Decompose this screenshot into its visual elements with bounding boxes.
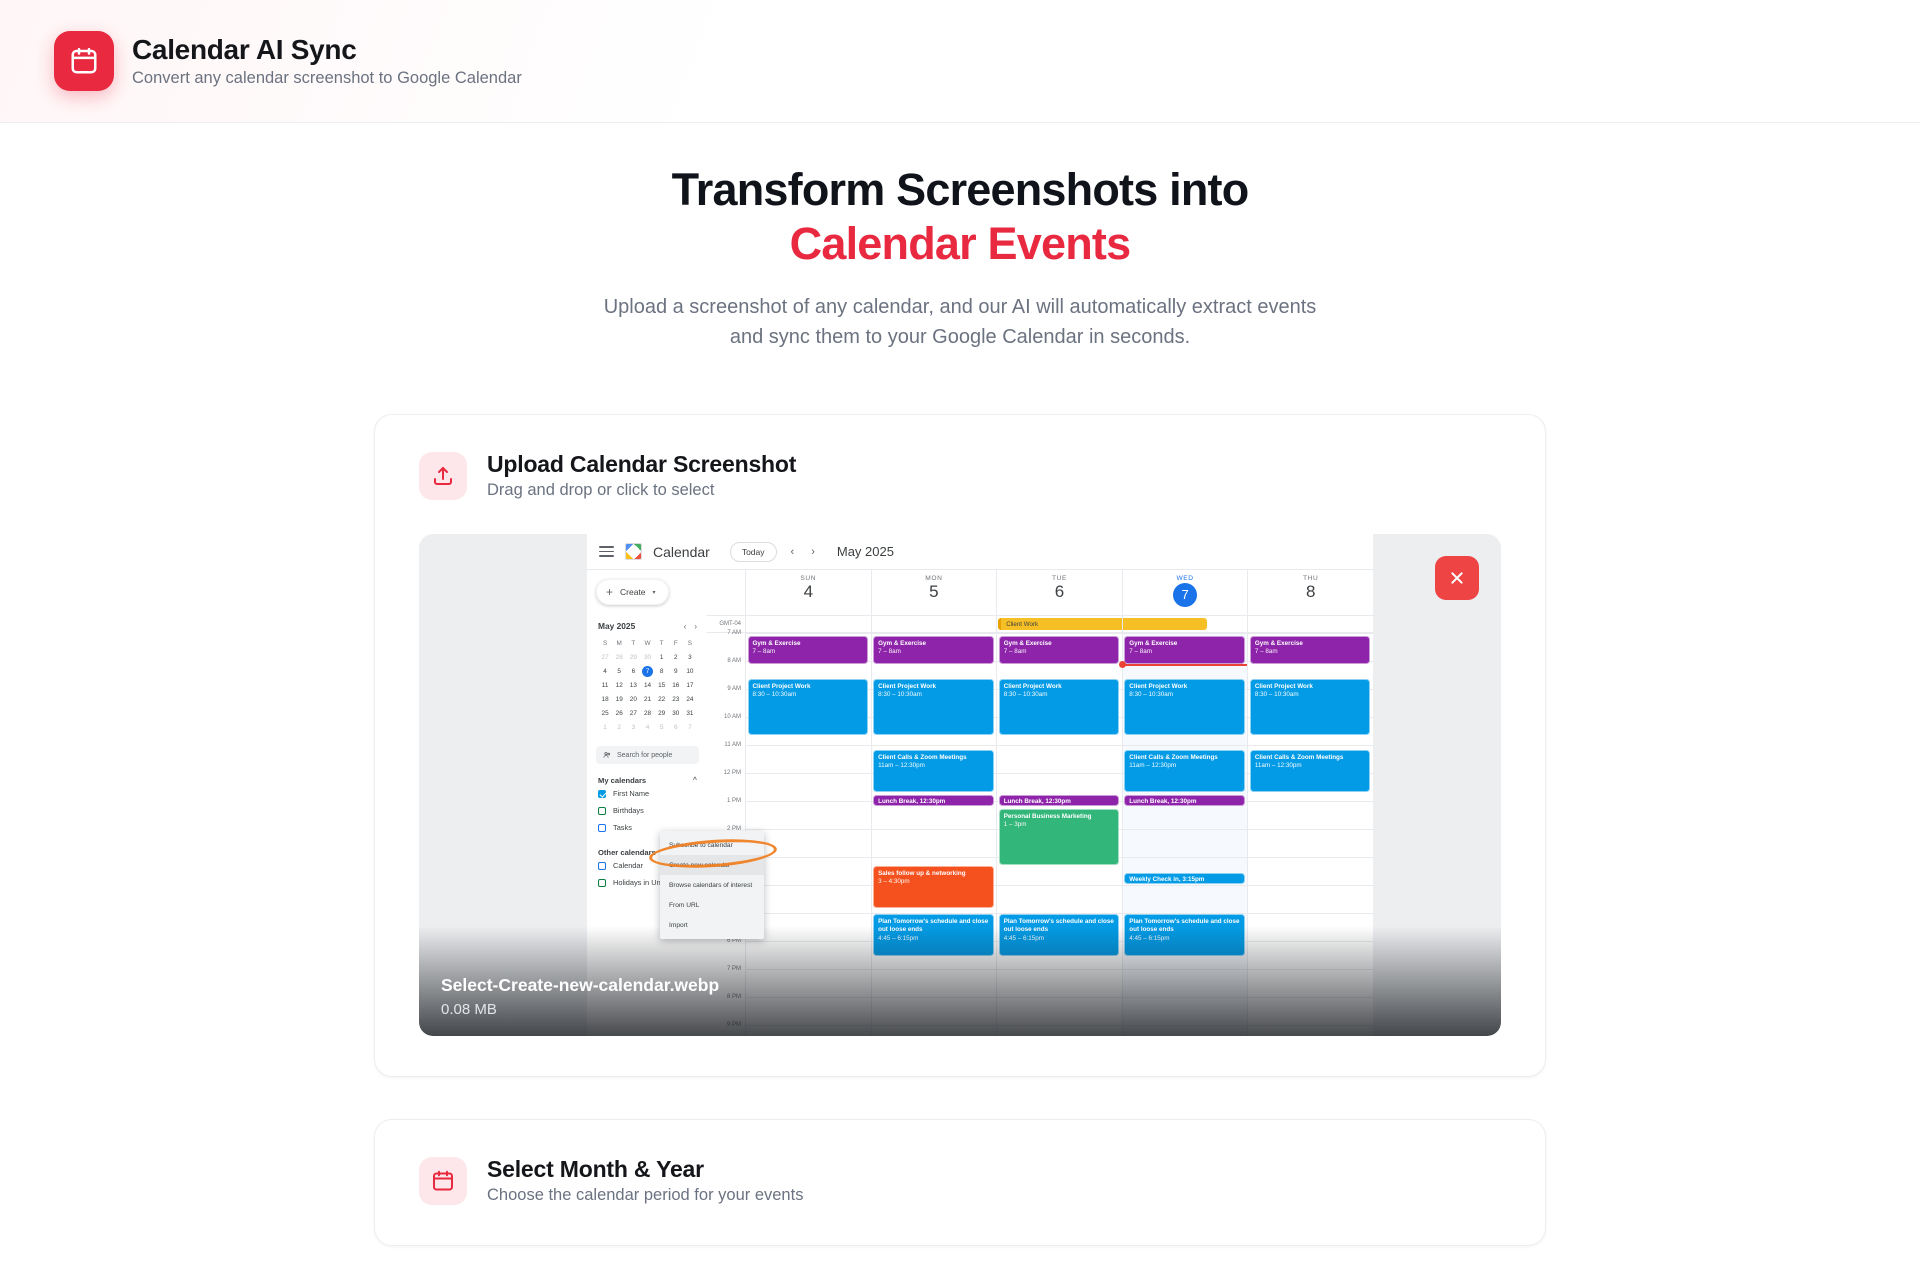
mini-day-25[interactable]: 25 [598, 708, 612, 719]
mini-day-19[interactable]: 19 [612, 694, 626, 705]
mini-dow-4: T [655, 638, 669, 649]
event-title: Client Project Work [1004, 683, 1115, 691]
calendar-event[interactable]: Client Calls & Zoom Meetings11am – 12:30… [1124, 750, 1245, 792]
hour-line [1248, 633, 1373, 634]
upload-card-header: Upload Calendar Screenshot Drag and drop… [419, 451, 1501, 500]
event-time: 7 – 8am [878, 648, 989, 656]
event-time: 7 – 8am [1004, 648, 1115, 656]
hour-line [997, 1025, 1122, 1026]
event-title: Sales follow up & networking [878, 870, 989, 878]
hour-line [746, 773, 871, 774]
mini-day-13[interactable]: 13 [626, 680, 640, 691]
time-label-2: 9 AM [727, 686, 741, 692]
mini-day-28[interactable]: 28 [640, 708, 654, 719]
allday-col-2[interactable]: Client Work [996, 616, 1122, 632]
time-label-6: 1 PM [727, 798, 741, 804]
day-columns[interactable]: Gym & Exercise7 – 8amClient Project Work… [745, 633, 1373, 1036]
context-menu-item-3[interactable]: From URL [660, 895, 764, 915]
hour-line [1248, 997, 1373, 998]
gutter-spacer [707, 570, 745, 615]
day-of-week-label: MON [872, 575, 997, 582]
event-title: Client Calls & Zoom Meetings [1129, 754, 1240, 762]
mini-day-23[interactable]: 23 [669, 694, 683, 705]
mini-day-14[interactable]: 14 [640, 680, 654, 691]
my-calendar-item-1[interactable]: Birthdays [596, 802, 699, 819]
event-title: Gym & Exercise [1004, 640, 1115, 648]
day-header-thu[interactable]: THU8 [1247, 570, 1373, 615]
search-for-people-label: Search for people [617, 752, 672, 759]
mini-calendar-title: May 2025 [598, 621, 635, 631]
hour-line [1123, 885, 1248, 886]
day-column-1[interactable]: Gym & Exercise7 – 8amClient Project Work… [871, 633, 997, 1036]
mini-day-27[interactable]: 27 [626, 708, 640, 719]
mini-day-3[interactable]: 3 [626, 722, 640, 733]
mini-calendar-grid[interactable]: SMTWTFS272829301234567891011121314151617… [598, 638, 697, 733]
event-title: Client Project Work [753, 683, 864, 691]
context-menu-item-4[interactable]: Import [660, 915, 764, 935]
event-title: Lunch Break, 12:30pm [878, 798, 989, 806]
calendar-event[interactable]: Plan Tomorrow's schedule and close out l… [999, 914, 1120, 956]
calendar-event[interactable]: Plan Tomorrow's schedule and close out l… [873, 914, 994, 956]
calendar-event[interactable]: Gym & Exercise7 – 8am [999, 636, 1120, 664]
calendar-event[interactable]: Client Project Work8:30 – 10:30am [1124, 679, 1245, 735]
context-menu-item-0[interactable]: Subscribe to calendar [660, 835, 764, 855]
mini-day-17[interactable]: 17 [683, 680, 697, 691]
hour-line [1248, 969, 1373, 970]
hour-line [1123, 997, 1248, 998]
time-label-3: 10 AM [724, 714, 741, 720]
day-number[interactable]: 8 [1248, 583, 1373, 602]
hour-line [746, 913, 871, 914]
event-title: Client Calls & Zoom Meetings [878, 754, 989, 762]
mini-day-30[interactable]: 30 [669, 708, 683, 719]
event-time: 8:30 – 10:30am [878, 691, 989, 699]
hero-description-line1: Upload a screenshot of any calendar, and… [604, 296, 1317, 318]
hour-line [746, 969, 871, 970]
calendar-event[interactable]: Plan Tomorrow's schedule and close out l… [1124, 914, 1245, 956]
mini-day-27[interactable]: 27 [598, 652, 612, 663]
mini-day-28[interactable]: 28 [612, 652, 626, 663]
hour-line [746, 857, 871, 858]
hour-line [1123, 1025, 1248, 1026]
time-label-0: 7 AM [727, 630, 741, 636]
current-time-indicator [1123, 664, 1248, 666]
calendar-event[interactable]: Gym & Exercise7 – 8am [873, 636, 994, 664]
hour-line [1248, 801, 1373, 802]
mini-dow-2: T [626, 638, 640, 649]
calendar-event[interactable]: Lunch Break, 12:30pm [1124, 795, 1245, 806]
event-time: 8:30 – 10:30am [1255, 691, 1366, 699]
hour-line [872, 857, 997, 858]
create-button-label: Create [620, 587, 646, 597]
calendar-event[interactable]: Client Calls & Zoom Meetings11am – 12:30… [1250, 750, 1371, 792]
hour-line [872, 1025, 997, 1026]
allday-col-1[interactable] [871, 616, 997, 632]
calendar-event[interactable]: Client Project Work8:30 – 10:30am [1250, 679, 1371, 735]
day-number[interactable]: 5 [872, 583, 997, 602]
people-icon [603, 751, 611, 759]
day-of-week-label: TUE [997, 575, 1122, 582]
time-label-12: 7 PM [727, 966, 741, 972]
mini-day-15[interactable]: 15 [655, 680, 669, 691]
calendar-icon [419, 1157, 467, 1205]
event-time: 11am – 12:30pm [1129, 762, 1240, 770]
app-header: Calendar AI Sync Convert any calendar sc… [0, 0, 1920, 123]
hour-line [746, 633, 871, 634]
mini-calendar: May 2025 ‹ › SMTWTFS27282930123456789101… [596, 621, 699, 733]
event-title: Lunch Break, 12:30pm [1004, 798, 1115, 806]
mini-day-12[interactable]: 12 [612, 680, 626, 691]
current-time-dot [1119, 661, 1126, 668]
search-for-people-input[interactable]: Search for people [596, 746, 699, 764]
gcal-week-grid: SUN4MON5TUE6WED7THU8 GMT-04 Client Work [707, 570, 1373, 1036]
my-calendars-section: My calendars ^ First NameBirthdaysTasks [596, 776, 699, 836]
mini-day-20[interactable]: 20 [626, 694, 640, 705]
hour-line [997, 969, 1122, 970]
time-label-14: 9 PM [727, 1022, 741, 1028]
mini-day-30[interactable]: 30 [640, 652, 654, 663]
chevron-down-icon: ▾ [653, 589, 656, 596]
hour-line [1248, 829, 1373, 830]
day-column-2[interactable]: Gym & Exercise7 – 8amClient Project Work… [996, 633, 1122, 1036]
mini-prev-icon[interactable]: ‹ [684, 622, 687, 631]
mini-day-4[interactable]: 4 [640, 722, 654, 733]
my-calendar-item-label: First Name [613, 789, 649, 798]
hour-line [872, 633, 997, 634]
day-of-week-label: SUN [746, 575, 871, 582]
event-title: Plan Tomorrow's schedule and close out l… [1129, 918, 1240, 934]
event-time: 4:45 – 6:15pm [878, 935, 989, 943]
mini-day-29[interactable]: 29 [655, 708, 669, 719]
remove-image-button[interactable] [1435, 556, 1479, 600]
event-title: Client Project Work [878, 683, 989, 691]
day-number[interactable]: 6 [997, 583, 1122, 602]
hour-line [997, 773, 1122, 774]
event-title: Gym & Exercise [878, 640, 989, 648]
event-title: Weekly Check in, 3:15pm [1129, 876, 1240, 884]
mini-day-1[interactable]: 1 [598, 722, 612, 733]
mini-next-icon[interactable]: › [694, 622, 697, 631]
month-year-card-header: Select Month & Year Choose the calendar … [419, 1156, 1501, 1205]
mini-day-2[interactable]: 2 [612, 722, 626, 733]
event-time: 3 – 4:30pm [878, 878, 989, 886]
day-of-week-label: WED [1123, 575, 1248, 582]
calendar-context-menu[interactable]: Subscribe to calendarCreate new calendar… [660, 831, 764, 939]
mini-day-7[interactable]: 7 [642, 666, 653, 677]
hour-line [746, 1025, 871, 1026]
event-time: 1 – 3pm [1004, 821, 1115, 829]
calendar-event[interactable]: Personal Business Marketing1 – 3pm [999, 809, 1120, 865]
time-label-4: 11 AM [724, 742, 741, 748]
mini-day-9[interactable]: 9 [669, 666, 683, 677]
gcal-sidebar: + Create ▾ May 2025 ‹ › [587, 570, 707, 1036]
calendar-event[interactable]: Client Project Work8:30 – 10:30am [999, 679, 1120, 735]
hour-line [746, 745, 871, 746]
day-column-4[interactable]: Gym & Exercise7 – 8amClient Project Work… [1247, 633, 1373, 1036]
calendar-event[interactable]: Sales follow up & networking3 – 4:30pm [873, 866, 994, 908]
time-label-13: 8 PM [727, 994, 741, 1000]
hero-section: Transform Screenshots into Calendar Even… [0, 123, 1920, 352]
event-time: 4:45 – 6:15pm [1004, 935, 1115, 943]
gcal-topbar: 7 Calendar Today ‹ › May 2025 [587, 534, 1373, 570]
checkbox-icon[interactable] [598, 807, 606, 815]
day-number[interactable]: 7 [1173, 583, 1197, 607]
event-title: Gym & Exercise [753, 640, 864, 648]
hour-line [872, 745, 997, 746]
event-title: Gym & Exercise [1129, 640, 1240, 648]
gcal-logo-day: 7 [631, 547, 636, 556]
checkbox-icon[interactable] [598, 790, 606, 798]
hour-line [1123, 633, 1248, 634]
event-title: Client Calls & Zoom Meetings [1255, 754, 1366, 762]
hour-line [997, 997, 1122, 998]
hero-description-line2: and sync them to your Google Calendar in… [730, 326, 1190, 348]
month-year-card-title: Select Month & Year [487, 1156, 803, 1183]
event-title: Client Project Work [1129, 683, 1240, 691]
my-calendar-item-label: Birthdays [613, 806, 644, 815]
today-button[interactable]: Today [730, 542, 777, 562]
event-time: 4:45 – 6:15pm [1129, 935, 1240, 943]
mini-day-21[interactable]: 21 [640, 694, 654, 705]
mini-dow-0: S [598, 638, 612, 649]
day-number[interactable]: 4 [746, 583, 871, 602]
calendar-event[interactable]: Lunch Break, 12:30pm [999, 795, 1120, 806]
checkbox-icon[interactable] [598, 862, 606, 870]
day-header-mon[interactable]: MON5 [871, 570, 997, 615]
day-header-sun[interactable]: SUN4 [745, 570, 871, 615]
mini-dow-6: S [683, 638, 697, 649]
my-calendars-list[interactable]: First NameBirthdaysTasks [596, 785, 699, 836]
google-calendar-logo-icon: 7 [625, 543, 642, 560]
mini-day-8[interactable]: 8 [655, 666, 669, 677]
hour-line [1248, 913, 1373, 914]
my-calendars-label: My calendars [598, 776, 646, 785]
checkbox-icon[interactable] [598, 824, 606, 832]
mini-day-22[interactable]: 22 [655, 694, 669, 705]
event-time: 7 – 8am [753, 648, 864, 656]
mini-day-16[interactable]: 16 [669, 680, 683, 691]
other-calendar-item-label: Calendar [613, 861, 643, 870]
hour-line [1123, 829, 1248, 830]
hour-line [746, 829, 871, 830]
next-month-icon[interactable]: › [808, 546, 818, 558]
mini-day-6[interactable]: 6 [626, 666, 640, 677]
event-title: Plan Tomorrow's schedule and close out l… [1004, 918, 1115, 934]
uploaded-screenshot: 7 Calendar Today ‹ › May 2025 + Create ▾ [587, 534, 1373, 1036]
mini-day-7[interactable]: 7 [683, 722, 697, 733]
calendar-event[interactable]: Lunch Break, 12:30pm [873, 795, 994, 806]
app-title: Calendar AI Sync [132, 34, 522, 66]
prev-month-icon[interactable]: ‹ [788, 546, 798, 558]
hour-line [1248, 885, 1373, 886]
hero-description: Upload a screenshot of any calendar, and… [0, 292, 1920, 352]
event-title: Gym & Exercise [1255, 640, 1366, 648]
event-time: 8:30 – 10:30am [753, 691, 864, 699]
event-time: 8:30 – 10:30am [1004, 691, 1115, 699]
mini-dow-3: W [640, 638, 654, 649]
context-menu-item-1[interactable]: Create new calendar [660, 855, 764, 875]
calendar-event[interactable]: Client Project Work8:30 – 10:30am [873, 679, 994, 735]
hero-title-line2: Calendar Events [0, 217, 1920, 271]
day-headers: SUN4MON5TUE6WED7THU8 [707, 570, 1373, 616]
allday-col-0[interactable] [745, 616, 871, 632]
event-time: 11am – 12:30pm [878, 762, 989, 770]
page-title: Transform Screenshots into Calendar Even… [0, 163, 1920, 270]
context-menu-item-2[interactable]: Browse calendars of interest [660, 875, 764, 895]
calendar-icon [54, 31, 114, 91]
hour-line [746, 997, 871, 998]
calendar-event[interactable]: Gym & Exercise7 – 8am [1250, 636, 1371, 664]
gcal-wordmark: Calendar [653, 544, 710, 560]
hour-line [1123, 745, 1248, 746]
event-title: Personal Business Marketing [1004, 813, 1115, 821]
mini-day-4[interactable]: 4 [598, 666, 612, 677]
time-grid: 7 AM8 AM9 AM10 AM11 AM12 PM1 PM2 PM3 PM4… [707, 633, 1373, 1036]
event-title: Client Project Work [1255, 683, 1366, 691]
create-button[interactable]: + Create ▾ [596, 579, 669, 605]
hour-line [1123, 857, 1248, 858]
hour-line [997, 885, 1122, 886]
calendar-event[interactable]: Client Project Work8:30 – 10:30am [748, 679, 869, 735]
event-title: Plan Tomorrow's schedule and close out l… [878, 918, 989, 934]
gcal-month-label: May 2025 [837, 544, 894, 559]
hour-line [1248, 857, 1373, 858]
hour-line [746, 941, 871, 942]
hero-title-line1: Transform Screenshots into [672, 164, 1249, 215]
month-year-card-subtitle: Choose the calendar period for your even… [487, 1186, 803, 1205]
mini-day-26[interactable]: 26 [612, 708, 626, 719]
app-subtitle: Convert any calendar screenshot to Googl… [132, 69, 522, 88]
plus-icon: + [606, 586, 613, 598]
mini-dow-5: F [669, 638, 683, 649]
time-label-1: 8 AM [727, 658, 741, 664]
hour-line [997, 633, 1122, 634]
my-calendar-item-0[interactable]: First Name [596, 785, 699, 802]
all-day-row: GMT-04 Client Work [707, 616, 1373, 633]
hour-line [1248, 941, 1373, 942]
calendar-event[interactable]: Weekly Check in, 3:15pm [1124, 873, 1245, 884]
calendar-event[interactable]: Gym & Exercise7 – 8am [1124, 636, 1245, 664]
brand: Calendar AI Sync Convert any calendar sc… [54, 31, 522, 91]
close-icon [1449, 570, 1465, 586]
mini-day-11[interactable]: 11 [598, 680, 612, 691]
mini-day-24[interactable]: 24 [683, 694, 697, 705]
mini-day-5[interactable]: 5 [612, 666, 626, 677]
other-calendars-label: Other calendars [598, 848, 656, 857]
upload-card-title: Upload Calendar Screenshot [487, 451, 796, 478]
checkbox-icon[interactable] [598, 879, 606, 887]
day-header-wed[interactable]: WED7 [1122, 570, 1248, 615]
hour-line [746, 885, 871, 886]
time-label-5: 12 PM [724, 770, 741, 776]
mini-day-3[interactable]: 3 [683, 652, 697, 663]
calendar-event[interactable]: Client Calls & Zoom Meetings11am – 12:30… [873, 750, 994, 792]
upload-card: Upload Calendar Screenshot Drag and drop… [374, 414, 1546, 1077]
hour-line [872, 969, 997, 970]
menu-icon[interactable] [599, 546, 614, 557]
event-time: 8:30 – 10:30am [1129, 691, 1240, 699]
mini-day-5[interactable]: 5 [655, 722, 669, 733]
day-of-week-label: THU [1248, 575, 1373, 582]
hour-line [872, 829, 997, 830]
mini-day-10[interactable]: 10 [683, 666, 697, 677]
mini-day-1[interactable]: 1 [655, 652, 669, 663]
allday-col-3[interactable] [1122, 616, 1248, 632]
mini-day-29[interactable]: 29 [626, 652, 640, 663]
chevron-up-icon[interactable]: ^ [693, 777, 697, 784]
month-year-card: Select Month & Year Choose the calendar … [374, 1119, 1546, 1246]
hour-line [872, 997, 997, 998]
event-title: Lunch Break, 12:30pm [1129, 798, 1240, 806]
day-column-3[interactable]: Gym & Exercise7 – 8amClient Project Work… [1122, 633, 1248, 1036]
mini-day-18[interactable]: 18 [598, 694, 612, 705]
hour-line [1248, 1025, 1373, 1026]
mini-day-31[interactable]: 31 [683, 708, 697, 719]
calendar-event[interactable]: Gym & Exercise7 – 8am [748, 636, 869, 664]
event-time: 7 – 8am [1255, 648, 1366, 656]
mini-dow-1: M [612, 638, 626, 649]
event-time: 7 – 8am [1129, 648, 1240, 656]
my-calendar-item-label: Tasks [613, 823, 632, 832]
hour-line [1123, 969, 1248, 970]
mini-day-6[interactable]: 6 [669, 722, 683, 733]
hour-line [746, 801, 871, 802]
hour-line [997, 745, 1122, 746]
mini-day-2[interactable]: 2 [669, 652, 683, 663]
allday-col-4[interactable] [1247, 616, 1373, 632]
upload-icon [419, 452, 467, 500]
event-time: 11am – 12:30pm [1255, 762, 1366, 770]
day-header-tue[interactable]: TUE6 [996, 570, 1122, 615]
upload-card-subtitle: Drag and drop or click to select [487, 481, 796, 500]
hour-line [1248, 745, 1373, 746]
image-preview[interactable]: 7 Calendar Today ‹ › May 2025 + Create ▾ [419, 534, 1501, 1036]
